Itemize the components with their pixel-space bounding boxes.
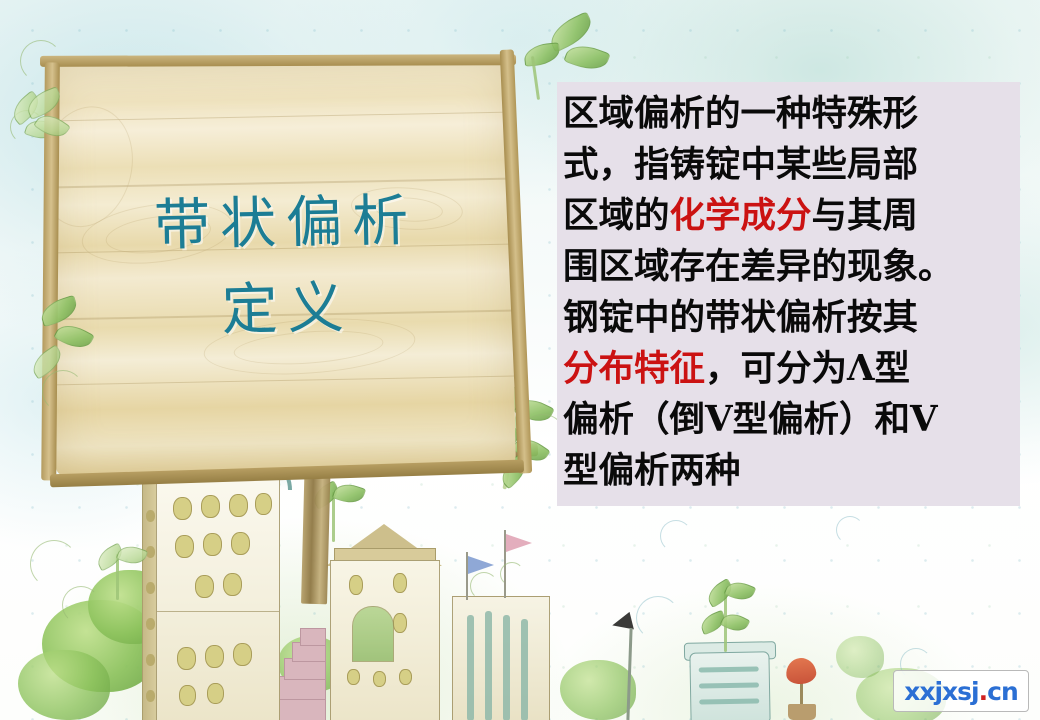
slide-canvas: 带状偏析 定义 区域偏析的一种特殊形式，指铸锭中某些局部区域的化学成分与其周围区…: [0, 0, 1040, 720]
definition-text-line: 区域偏析的一种特殊形: [563, 88, 1012, 139]
bush-icon: [836, 636, 884, 678]
pink-flag-icon: [506, 534, 532, 552]
striped-slab-building: [452, 596, 550, 720]
decorative-swirl: [836, 516, 864, 544]
highlighted-term: 分布特征: [563, 348, 705, 389]
text-run: 围区域存在差异的现象。: [563, 246, 954, 287]
text-run: 区域的: [563, 195, 670, 236]
definition-text-line: 钢锭中的带状偏析按其: [563, 292, 1012, 343]
text-run: ，可分为Λ型: [705, 348, 910, 389]
decorative-swirl: [30, 540, 78, 588]
sprout-leaf: [332, 480, 366, 507]
decorative-leaf: [523, 42, 561, 67]
highlighted-term: 化学成分: [670, 195, 812, 236]
definition-body-text: 区域偏析的一种特殊形式，指铸锭中某些局部区域的化学成分与其周围区域存在差异的现象…: [563, 88, 1012, 496]
castle-archway: [352, 606, 394, 662]
sign-title-block: 带状偏析 定义: [48, 58, 516, 477]
decorative-swirl: [470, 572, 498, 600]
definition-text-line: 区域的化学成分与其周: [563, 190, 1012, 241]
trash-bin: [689, 651, 770, 720]
watermark-name: xxjxsj: [904, 677, 978, 706]
decorative-swirl: [636, 596, 680, 640]
watermark-dot: .: [979, 677, 988, 706]
text-run: 偏析（倒V型偏析）和V: [563, 399, 938, 440]
site-watermark: xxjxsj.cn: [893, 670, 1029, 712]
text-run: 区域偏析的一种特殊形: [563, 93, 918, 134]
decorative-swirl: [660, 520, 692, 552]
definition-text-line: 围区域存在差异的现象。: [563, 241, 1012, 292]
definition-text-line: 分布特征，可分为Λ型: [563, 343, 1012, 394]
sign-title-line-2: 定义: [211, 281, 354, 340]
wooden-signboard: 带状偏析 定义: [48, 58, 516, 477]
watermark-text: xxjxsj.cn: [904, 677, 1018, 706]
red-flower-icon: [785, 657, 818, 686]
text-run: 钢锭中的带状偏析按其: [563, 297, 918, 338]
text-run: 与其周: [812, 195, 919, 236]
flower-pot: [788, 704, 816, 720]
text-run: 型偏析两种: [563, 450, 741, 491]
decorative-swirl: [62, 586, 100, 624]
definition-text-line: 式，指铸锭中某些局部: [563, 139, 1012, 190]
tall-tower-building: [156, 470, 280, 720]
bush-icon: [560, 660, 636, 720]
definition-text-panel: 区域偏析的一种特殊形式，指铸锭中某些局部区域的化学成分与其周围区域存在差异的现象…: [557, 82, 1020, 506]
decorative-swirl: [42, 370, 84, 412]
watermark-tld: cn: [987, 677, 1018, 706]
bush-icon: [18, 650, 110, 720]
definition-text-line: 型偏析两种: [563, 445, 1012, 496]
sign-title-line-1: 带状偏析: [144, 193, 419, 254]
text-run: 式，指铸锭中某些局部: [563, 144, 918, 185]
definition-text-line: 偏析（倒V型偏析）和V: [563, 394, 1012, 445]
decorative-swirl: [500, 562, 524, 586]
